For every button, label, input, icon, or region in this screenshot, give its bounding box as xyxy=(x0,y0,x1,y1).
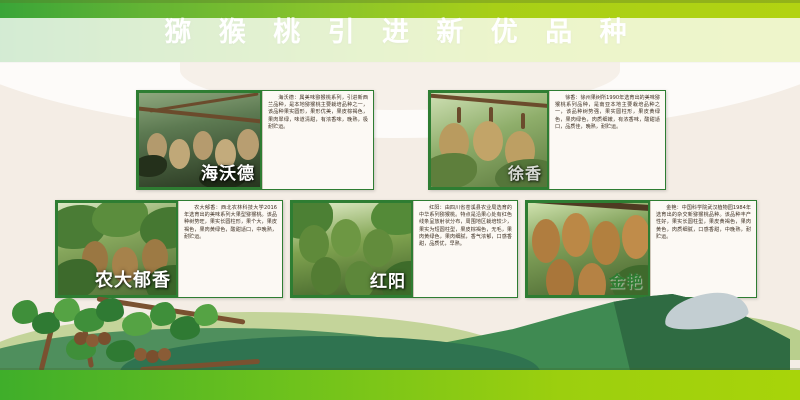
variety-card-xuxiang[interactable]: 徐香 徐香：徐州果树所1990年选育出的美味猕猴桃系列品种，是南亚本地主要栽培品… xyxy=(428,90,666,190)
variety-description-hayward: 海沃德：属美味猕猴桃系列，引进新西兰品种，是本地猕猴桃主要栽培品种之一，该品种果… xyxy=(268,95,368,131)
variety-photo-xuxiang: 徐香 xyxy=(429,91,549,189)
variety-description-xuxiang: 徐香：徐州果树所1990年选育出的美味猕猴桃系列品种，是南亚本地主要栽培品种之一… xyxy=(555,95,660,131)
variety-name-xuxiang: 徐香 xyxy=(508,160,542,184)
variety-description-jinyan: 金艳：中国科学院武汉植物园1984年选育出的杂交新猕猴桃品种。该品种丰产性好，果… xyxy=(656,205,751,241)
variety-description-hongyang: 红阳：由四川省苍溪县农业局选育的中华系列猕猴桃。特点是沿果心处有红色线条呈放射状… xyxy=(419,205,512,248)
variety-photo-hayward: 海沃德 xyxy=(137,91,262,189)
banner-top-edge xyxy=(0,0,800,3)
kiwi-vine-illustration xyxy=(10,286,350,372)
variety-text-wrap-hayward: 海沃德：属美味猕猴桃系列，引进新西兰品种，是本地猕猴桃主要栽培品种之一，该品种果… xyxy=(262,91,373,189)
poster-root: 猕 猴 桃 引 进 新 优 品 种 海沃德 海沃德：属美味猕猴桃系列，引进新西兰… xyxy=(0,0,800,400)
variety-name-hayward: 海沃德 xyxy=(201,159,255,184)
ground-band xyxy=(0,370,800,400)
variety-text-wrap-xuxiang: 徐香：徐州果树所1990年选育出的美味猕猴桃系列品种，是南亚本地主要栽培品种之一… xyxy=(549,91,665,189)
variety-card-hayward[interactable]: 海沃德 海沃德：属美味猕猴桃系列，引进新西兰品种，是本地猕猴桃主要栽培品种之一，… xyxy=(136,90,374,190)
variety-description-nongdayuxiang: 农大郁香：西北农林科技大学2016年选育出的美味系列大果型猕猴桃。该品种树势旺，… xyxy=(184,205,277,241)
bottom-scenery-decoration xyxy=(0,280,800,400)
